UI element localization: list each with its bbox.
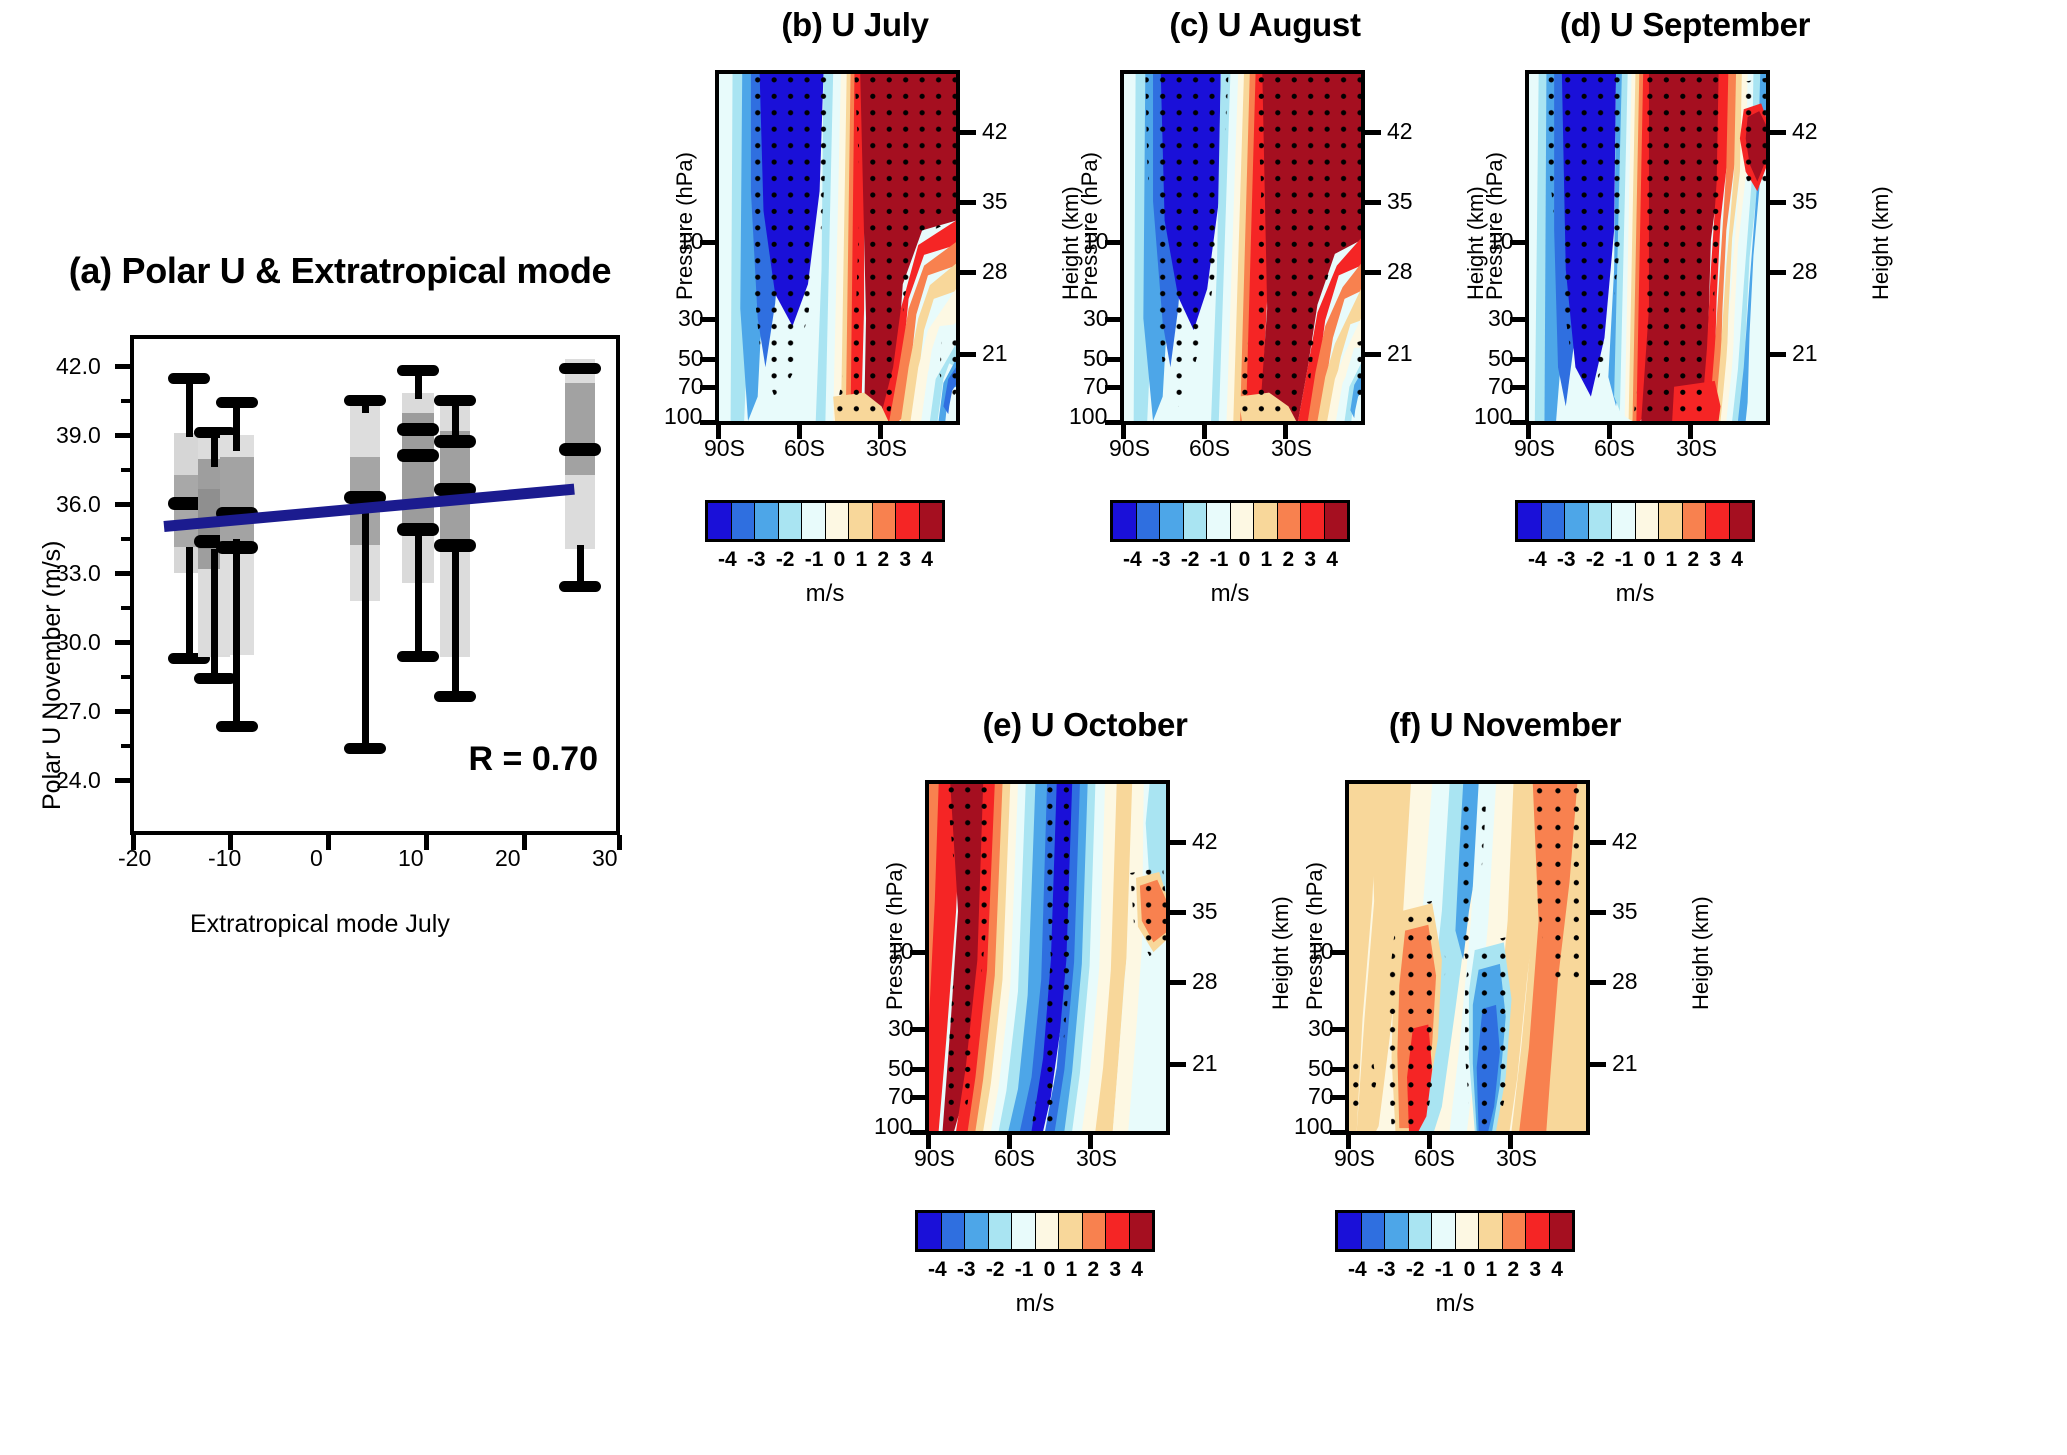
figure-root: (a) Polar U & Extratropical mode Polar U… [0, 0, 2067, 1455]
colorbar-e [915, 1210, 1155, 1252]
panel-e-ylabel-left: Pressure (hPa) [882, 862, 908, 1010]
colorbar-d-labels: -4-3-2-10 1234 [1528, 548, 1743, 572]
contour-field-november [1349, 784, 1586, 1131]
box-whisker-group [397, 339, 439, 831]
colorbar-f-labels: -4-3-2-10 1234 [1348, 1258, 1563, 1282]
panel-f-heatmap: (f) U November Pressure (hPa) Height (km… [1280, 700, 1710, 1400]
panel-a-plot-area: R = 0.70 [130, 335, 620, 835]
box-whisker-group [344, 339, 384, 831]
contour-field-september [1529, 74, 1766, 421]
contour-field-october [929, 784, 1166, 1131]
panel-f-title: (f) U November [1290, 706, 1720, 744]
colorbar-d [1515, 500, 1755, 542]
panel-e-heatmap: (e) U October Pressure (hPa) Height (km) [870, 700, 1300, 1400]
correlation-annotation: R = 0.70 [469, 740, 598, 779]
panel-c-heatmap: (c) U August Pressure (hPa) Height (km) [1065, 0, 1495, 690]
panel-c-plot-area [1120, 70, 1365, 425]
colorbar-d-unit: m/s [1515, 580, 1755, 608]
colorbar-c-unit: m/s [1110, 580, 1350, 608]
colorbar-b [705, 500, 945, 542]
panel-d-title: (d) U September [1470, 6, 1900, 44]
panel-d-heatmap: (d) U September Pressure (hPa) Height (k… [1470, 0, 1900, 690]
panel-e-title: (e) U October [870, 706, 1300, 744]
colorbar-b-unit: m/s [705, 580, 945, 608]
panel-d-ylabel-right: Height (km) [1868, 186, 1894, 300]
panel-e-plot-area [925, 780, 1170, 1135]
panel-a-title: (a) Polar U & Extratropical mode [20, 250, 660, 292]
colorbar-f [1335, 1210, 1575, 1252]
colorbar-b-labels: -4-3-2-10 1234 [718, 548, 933, 572]
colorbar-e-unit: m/s [915, 1290, 1155, 1318]
panel-b-heatmap: (b) U July Pressure (hPa) Height (km) [660, 0, 1090, 690]
panel-f-plot-area [1345, 780, 1590, 1135]
panel-d-plot-area [1525, 70, 1770, 425]
contour-field-august [1124, 74, 1361, 421]
colorbar-c-labels: -4-3-2-10 1234 [1123, 548, 1338, 572]
panel-c-ylabel-left: Pressure (hPa) [1077, 152, 1103, 300]
box-whisker-group [216, 339, 260, 831]
colorbar-e-labels: -4-3-2-10 1234 [928, 1258, 1143, 1282]
colorbar-c [1110, 500, 1350, 542]
panel-b-plot-area [715, 70, 960, 425]
colorbar-f-unit: m/s [1335, 1290, 1575, 1318]
panel-b-title: (b) U July [640, 6, 1070, 44]
panel-d-ylabel-left: Pressure (hPa) [1482, 152, 1508, 300]
panel-a-xlabel: Extratropical mode July [190, 910, 450, 939]
panel-a-scatter: (a) Polar U & Extratropical mode Polar U… [20, 250, 660, 950]
panel-b-ylabel-left: Pressure (hPa) [672, 152, 698, 300]
panel-f-ylabel-right: Height (km) [1688, 896, 1714, 1010]
panel-f-ylabel-left: Pressure (hPa) [1302, 862, 1328, 1010]
panel-c-title: (c) U August [1050, 6, 1480, 44]
contour-field-july [719, 74, 956, 421]
